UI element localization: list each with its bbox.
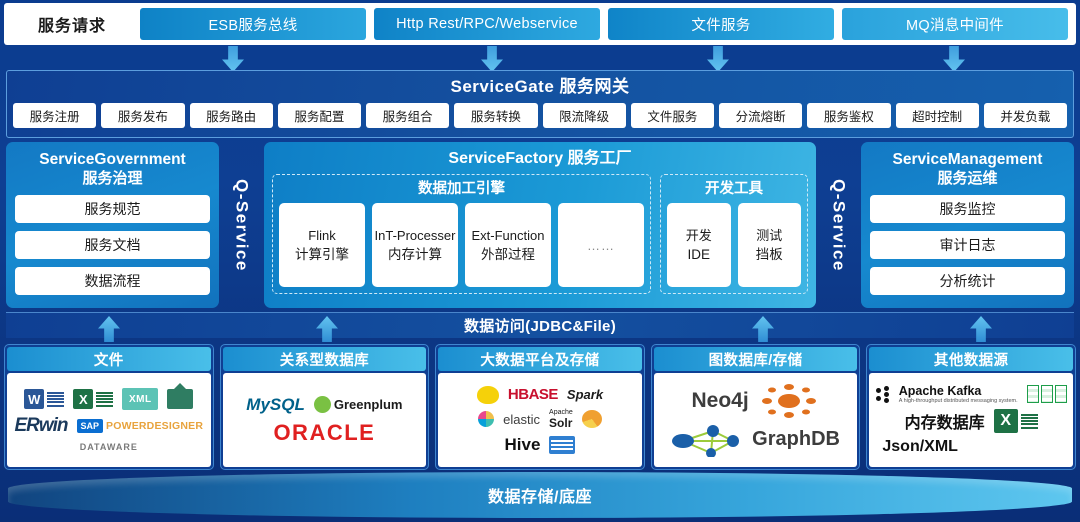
service-factory-title: ServiceFactory 服务工厂 bbox=[272, 148, 808, 170]
tools-card-dev-ide[interactable]: 开发 IDE bbox=[667, 203, 731, 287]
mysql-logo: MySQL bbox=[246, 395, 305, 415]
kafka-label: Apache Kafka bbox=[899, 384, 982, 398]
neo4j-graph-icon bbox=[671, 423, 743, 457]
solr-label: Solr bbox=[549, 416, 572, 430]
arrow-down-icon bbox=[943, 46, 965, 72]
management-item-audit-log[interactable]: 审计日志 bbox=[870, 231, 1065, 259]
source-title-relational-db: 关系型数据库 bbox=[223, 347, 427, 371]
tools-card-dev-desc: IDE bbox=[687, 245, 710, 264]
gate-chip-service-config[interactable]: 服务配置 bbox=[278, 103, 361, 128]
engine-card-more[interactable]: …… bbox=[558, 203, 644, 287]
channel-esb[interactable]: ESB服务总线 bbox=[140, 8, 366, 40]
gate-chip-concurrent-load[interactable]: 并发负载 bbox=[984, 103, 1067, 128]
source-card-other: 其他数据源 Apache Kafka A high-throughput dis… bbox=[866, 344, 1076, 470]
word-icon: W bbox=[24, 389, 64, 409]
spark-logo: Spark bbox=[567, 387, 603, 402]
service-gate-panel: ServiceGate 服务网关 服务注册 服务发布 服务路由 服务配置 服务组… bbox=[6, 70, 1074, 138]
service-request-label: 服务请求 bbox=[12, 12, 132, 36]
solr-apache-label: Apache bbox=[549, 409, 573, 416]
erwin-logo: ERwin bbox=[14, 415, 67, 437]
engine-card-int-processer-desc: 内存计算 bbox=[388, 245, 442, 264]
engine-card-int-processer[interactable]: InT-Processer 内存计算 bbox=[372, 203, 458, 287]
kafka-tagline: A high-throughput distributed messaging … bbox=[899, 398, 1018, 404]
engine-card-ext-function[interactable]: Ext-Function 外部过程 bbox=[465, 203, 551, 287]
graphdb-node-icon bbox=[758, 384, 820, 418]
gate-chip-service-register[interactable]: 服务注册 bbox=[13, 103, 96, 128]
service-management-title: ServiceManagement 服务运维 bbox=[870, 150, 1065, 188]
xml-file-icon: XML bbox=[122, 388, 158, 410]
channel-file-service[interactable]: 文件服务 bbox=[608, 8, 834, 40]
excel-icon-other-lines bbox=[1021, 412, 1038, 431]
data-access-label: 数据访问(JDBC&File) bbox=[464, 315, 616, 336]
engine-card-flink-desc: 计算引擎 bbox=[295, 245, 349, 264]
dataware-db-icon bbox=[167, 389, 193, 409]
gate-chip-service-publish[interactable]: 服务发布 bbox=[101, 103, 184, 128]
service-management-title-cn: 服务运维 bbox=[870, 169, 1065, 188]
service-request-bar: 服务请求 ESB服务总线 Http Rest/RPC/Webservice 文件… bbox=[4, 3, 1076, 45]
kafka-icon bbox=[876, 386, 890, 402]
tools-card-test-stub[interactable]: 测试 挡板 bbox=[738, 203, 802, 287]
development-tools-title: 开发工具 bbox=[667, 179, 801, 199]
memory-db-label: 内存数据库 bbox=[905, 409, 985, 433]
excel-icon-badge: X bbox=[73, 389, 93, 409]
engine-card-more-label: …… bbox=[587, 236, 615, 255]
data-storage-base-label: 数据存储/底座 bbox=[488, 483, 592, 507]
elastic-label: elastic bbox=[503, 412, 540, 427]
gate-chip-service-auth[interactable]: 服务鉴权 bbox=[807, 103, 890, 128]
service-factory-panel: ServiceFactory 服务工厂 数据加工引擎 Flink 计算引擎 In… bbox=[264, 142, 816, 308]
source-logos-relational-db: MySQL Greenplum ORACLE bbox=[223, 373, 427, 467]
hive-file-icon bbox=[549, 436, 575, 454]
arrow-down-icon bbox=[707, 46, 729, 72]
table-grid-icon bbox=[1027, 385, 1067, 403]
data-source-row: 文件 W X XML ERwin SAP POWERDESIGNER bbox=[4, 344, 1076, 470]
word-icon-badge: W bbox=[24, 389, 44, 409]
hbase-logo: HBASE bbox=[508, 386, 558, 403]
data-processing-engine-group: 数据加工引擎 Flink 计算引擎 InT-Processer 内存计算 Ext… bbox=[272, 174, 651, 294]
arrow-down-icon bbox=[481, 46, 503, 72]
management-item-analytics[interactable]: 分析统计 bbox=[870, 267, 1065, 295]
oracle-logo: ORACLE bbox=[273, 420, 375, 446]
solr-logo: Apache Solr bbox=[549, 409, 573, 430]
source-logos-graph-db: Neo4j bbox=[654, 373, 858, 467]
hive-logo: Hive bbox=[505, 435, 541, 455]
sap-logo-badge: SAP bbox=[77, 419, 104, 433]
excel-icon-lines bbox=[96, 390, 113, 409]
engine-card-ext-function-desc: 外部过程 bbox=[481, 245, 535, 264]
gate-chip-service-route[interactable]: 服务路由 bbox=[190, 103, 273, 128]
governance-item-data-flow[interactable]: 数据流程 bbox=[15, 267, 210, 295]
service-government-title: ServiceGovernment 服务治理 bbox=[15, 150, 210, 188]
service-gate-capability-list: 服务注册 服务发布 服务路由 服务配置 服务组合 服务转换 限流降级 文件服务 … bbox=[13, 103, 1067, 128]
channel-mq[interactable]: MQ消息中间件 bbox=[842, 8, 1068, 40]
service-government-title-en: ServiceGovernment bbox=[39, 151, 185, 168]
source-title-bigdata: 大数据平台及存储 bbox=[438, 347, 642, 371]
gate-chip-service-compose[interactable]: 服务组合 bbox=[366, 103, 449, 128]
engine-card-list: Flink 计算引擎 InT-Processer 内存计算 Ext-Functi… bbox=[279, 203, 644, 287]
kafka-logo: Apache Kafka A high-throughput distribut… bbox=[899, 384, 1018, 404]
source-logos-bigdata: HBASE Spark elastic Apache Solr Hive bbox=[438, 373, 642, 467]
q-service-left-text: Q-Service bbox=[232, 179, 252, 272]
gate-chip-timeout-control[interactable]: 超时控制 bbox=[896, 103, 979, 128]
excel-icon-other-badge: X bbox=[994, 409, 1018, 433]
sap-powerdesigner-logo: SAP POWERDESIGNER bbox=[77, 419, 204, 433]
neo4j-logo: Neo4j bbox=[691, 389, 748, 413]
word-icon-lines bbox=[47, 390, 64, 409]
graphdb-label: GraphDB bbox=[752, 428, 840, 451]
greenplum-logo: Greenplum bbox=[314, 396, 403, 413]
engine-card-flink-name: Flink bbox=[308, 226, 335, 245]
powerdesigner-label: POWERDESIGNER bbox=[106, 420, 203, 432]
excel-icon-other: X bbox=[994, 409, 1038, 433]
governance-item-service-doc[interactable]: 服务文档 bbox=[15, 231, 210, 259]
engine-card-int-processer-name: InT-Processer bbox=[375, 226, 456, 245]
gate-chip-file-service[interactable]: 文件服务 bbox=[631, 103, 714, 128]
source-card-files: 文件 W X XML ERwin SAP POWERDESIGNER bbox=[4, 344, 214, 470]
q-service-right-text: Q-Service bbox=[829, 179, 849, 272]
service-government-panel: ServiceGovernment 服务治理 服务规范 服务文档 数据流程 bbox=[6, 142, 219, 308]
data-access-bar: 数据访问(JDBC&File) bbox=[6, 312, 1074, 338]
middle-row: ServiceGovernment 服务治理 服务规范 服务文档 数据流程 Q-… bbox=[6, 142, 1074, 308]
dataware-label: DATAWARE bbox=[80, 442, 138, 452]
source-title-other: 其他数据源 bbox=[869, 347, 1073, 371]
arrow-down-icon bbox=[222, 46, 244, 72]
service-management-title-en: ServiceManagement bbox=[893, 151, 1043, 168]
channel-http-rest[interactable]: Http Rest/RPC/Webservice bbox=[374, 8, 600, 40]
data-processing-engine-title: 数据加工引擎 bbox=[279, 179, 644, 199]
source-logos-other: Apache Kafka A high-throughput distribut… bbox=[869, 373, 1073, 467]
q-service-right-label: Q-Service bbox=[816, 142, 861, 308]
excel-icon: X bbox=[73, 389, 113, 409]
service-gate-title: ServiceGate 服务网关 bbox=[13, 76, 1067, 98]
data-storage-base: 数据存储/底座 bbox=[8, 472, 1072, 518]
source-card-bigdata: 大数据平台及存储 HBASE Spark elastic Apache Solr… bbox=[435, 344, 645, 470]
engine-card-flink[interactable]: Flink 计算引擎 bbox=[279, 203, 365, 287]
service-management-panel: ServiceManagement 服务运维 服务监控 审计日志 分析统计 bbox=[861, 142, 1074, 308]
tools-card-test-desc: 挡板 bbox=[756, 245, 783, 264]
service-factory-body: 数据加工引擎 Flink 计算引擎 InT-Processer 内存计算 Ext… bbox=[272, 174, 808, 294]
elastic-icon bbox=[478, 411, 494, 427]
hadoop-hive-bee-icon bbox=[477, 386, 499, 404]
q-service-left-label: Q-Service bbox=[219, 142, 264, 308]
source-logos-files: W X XML ERwin SAP POWERDESIGNER DATAWARE bbox=[7, 373, 211, 467]
development-tools-group: 开发工具 开发 IDE 测试 挡板 bbox=[660, 174, 808, 294]
source-card-relational-db: 关系型数据库 MySQL Greenplum ORACLE bbox=[220, 344, 430, 470]
gate-chip-rate-limit[interactable]: 限流降级 bbox=[543, 103, 626, 128]
greenplum-label: Greenplum bbox=[334, 397, 403, 412]
gate-chip-circuit-breaker[interactable]: 分流熔断 bbox=[719, 103, 802, 128]
source-title-files: 文件 bbox=[7, 347, 211, 371]
json-xml-label: Json/XML bbox=[882, 438, 958, 456]
governance-item-service-spec[interactable]: 服务规范 bbox=[15, 195, 210, 223]
solr-sun-icon bbox=[582, 410, 602, 428]
greenplum-icon bbox=[314, 396, 331, 413]
source-title-graph-db: 图数据库/存储 bbox=[654, 347, 858, 371]
service-government-title-cn: 服务治理 bbox=[15, 169, 210, 188]
engine-card-ext-function-name: Ext-Function bbox=[472, 226, 545, 245]
tools-card-dev-name: 开发 bbox=[686, 226, 712, 245]
management-item-service-monitor[interactable]: 服务监控 bbox=[870, 195, 1065, 223]
tools-card-test-name: 测试 bbox=[756, 226, 782, 245]
source-card-graph-db: 图数据库/存储 Neo4j bbox=[651, 344, 861, 470]
tools-card-list: 开发 IDE 测试 挡板 bbox=[667, 203, 801, 287]
gate-chip-service-transform[interactable]: 服务转换 bbox=[454, 103, 537, 128]
